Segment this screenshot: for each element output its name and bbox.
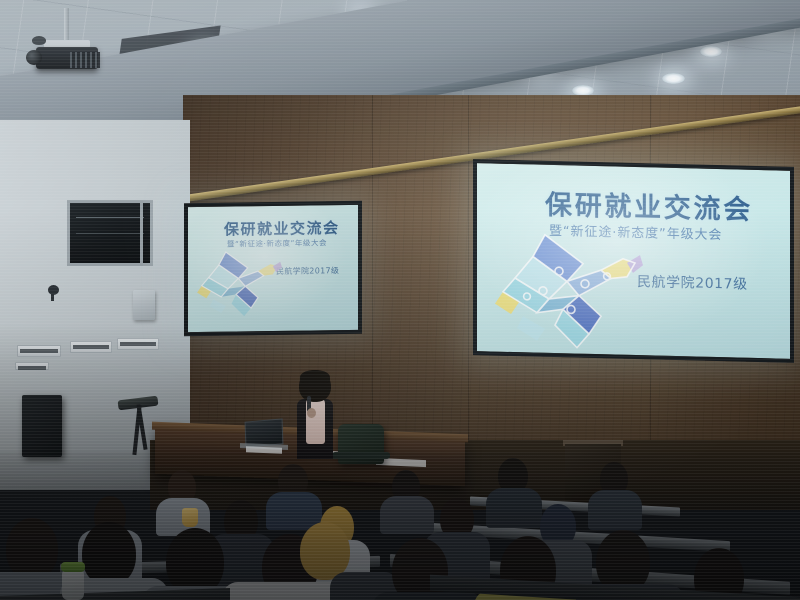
slide-left: 保研就业交流会 暨“新征途·新态度”年级大会 民航学院2017级	[188, 205, 358, 332]
downlight-9	[662, 73, 685, 84]
audience-torso-back-1	[486, 488, 542, 528]
projector-vent	[70, 52, 100, 68]
lecture-hall-photo: 保研就业交流会 暨“新征途·新态度”年级大会 民航学院2017级	[0, 0, 800, 600]
slide-organization-right: 民航学院2017级	[637, 271, 748, 294]
water-bottle[interactable]	[62, 570, 84, 600]
audience-torso-back-2	[588, 490, 642, 530]
audience-torso-back-4	[380, 496, 434, 534]
water-bottle-cap	[61, 562, 85, 572]
slide-right: 保研就业交流会 暨“新征途·新态度”年级大会 民航学院2017级	[477, 163, 790, 359]
audience-head-front-2	[82, 522, 136, 586]
jigsaw-airplane-graphic-left	[196, 240, 282, 319]
projector-mount-pole	[64, 8, 69, 42]
projection-screen-right: 保研就业交流会 暨“新征途·新态度”年级大会 民航学院2017级	[473, 159, 794, 363]
audience-area: AN	[0, 440, 800, 600]
downlight-10	[700, 46, 722, 57]
smoke-detector-icon	[32, 36, 46, 45]
presenter-hand	[307, 408, 316, 418]
slide-title-left: 保研就业交流会	[224, 217, 340, 240]
presenter-fringe	[300, 370, 330, 384]
audience-head-front-1	[6, 518, 58, 580]
audience-torso-front-6	[372, 592, 484, 600]
projector-lens	[26, 50, 42, 65]
projection-screen-left: 保研就业交流会 暨“新征途·新态度”年级大会 民航学院2017级	[184, 201, 362, 336]
slide-organization-left: 民航学院2017级	[276, 265, 339, 277]
jigsaw-airplane-graphic	[493, 216, 643, 352]
drink-cup[interactable]	[182, 508, 198, 527]
